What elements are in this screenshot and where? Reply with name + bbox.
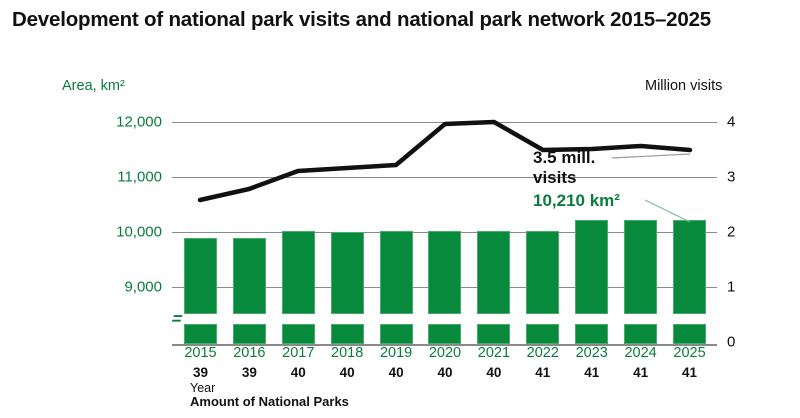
x-label-parks-2021: 40 xyxy=(469,365,518,380)
x-label-year-2020: 2020 xyxy=(421,345,470,361)
bar-2020 xyxy=(428,231,461,314)
ytick-left-11000: 11,000 xyxy=(90,169,162,186)
x-label-year-2018: 2018 xyxy=(323,345,372,361)
chart-container: Development of national park visits and … xyxy=(0,0,800,418)
x-label-parks-2018: 40 xyxy=(323,365,372,380)
ytick-right-4: 4 xyxy=(727,114,735,131)
bar-2025 xyxy=(673,220,706,314)
footnote-parks: Amount of National Parks xyxy=(190,394,349,409)
bar-2022 xyxy=(526,231,559,314)
x-label-parks-2023: 41 xyxy=(567,365,616,380)
visits-annotation-leader xyxy=(612,154,690,158)
bar-2023 xyxy=(575,220,608,314)
x-label-year-2019: 2019 xyxy=(372,345,421,361)
bar-stub-2016 xyxy=(233,324,266,344)
footnote-year: Year xyxy=(190,381,215,395)
annotation-area: 10,210 km² xyxy=(533,191,620,211)
gridline-11000 xyxy=(172,177,717,178)
ytick-right-0: 0 xyxy=(727,334,735,351)
x-label-year-2022: 2022 xyxy=(518,345,567,361)
x-label-year-2024: 2024 xyxy=(616,345,665,361)
bar-stub-2015 xyxy=(184,324,217,344)
x-label-year-2017: 2017 xyxy=(274,345,323,361)
x-label-parks-2015: 39 xyxy=(176,365,225,380)
ytick-left-12000: 12,000 xyxy=(90,114,162,131)
bar-stub-2018 xyxy=(331,324,364,344)
ytick-right-2: 2 xyxy=(727,224,735,241)
annotation-visits-line2: visits xyxy=(533,168,576,188)
ytick-left-9000: 9,000 xyxy=(90,279,162,296)
x-label-parks-2022: 41 xyxy=(518,365,567,380)
bar-stub-2024 xyxy=(624,324,657,344)
bar-2017 xyxy=(282,231,315,314)
x-label-year-2025: 2025 xyxy=(665,345,714,361)
x-label-parks-2017: 40 xyxy=(274,365,323,380)
bar-stub-2020 xyxy=(428,324,461,344)
area-annotation-leader xyxy=(645,200,690,222)
x-label-parks-2019: 40 xyxy=(372,365,421,380)
annotation-visits-line1: 3.5 mill. xyxy=(533,148,595,168)
ytick-left-10000: 10,000 xyxy=(90,224,162,241)
ytick-right-3: 3 xyxy=(727,169,735,186)
bar-2015 xyxy=(184,238,217,314)
bar-stub-2017 xyxy=(282,324,315,344)
x-label-parks-2020: 40 xyxy=(421,365,470,380)
x-label-year-2016: 2016 xyxy=(225,345,274,361)
plot-area: 12,000 11,000 10,000 9,000 4 3 2 1 0 = 3… xyxy=(0,0,800,418)
bar-2021 xyxy=(477,231,510,314)
bar-stub-2019 xyxy=(380,324,413,344)
x-label-year-2015: 2015 xyxy=(176,345,225,361)
x-label-parks-2016: 39 xyxy=(225,365,274,380)
x-label-parks-2025: 41 xyxy=(665,365,714,380)
visits-polyline xyxy=(200,122,690,200)
ytick-right-1: 1 xyxy=(727,279,735,296)
bar-2024 xyxy=(624,220,657,314)
bar-stub-2022 xyxy=(526,324,559,344)
bar-2016 xyxy=(233,238,266,314)
bar-stub-2025 xyxy=(673,324,706,344)
x-label-parks-2024: 41 xyxy=(616,365,665,380)
bar-stub-2023 xyxy=(575,324,608,344)
x-label-year-2023: 2023 xyxy=(567,345,616,361)
bar-2018 xyxy=(331,232,364,314)
bar-stub-2021 xyxy=(477,324,510,344)
x-label-year-2021: 2021 xyxy=(469,345,518,361)
bar-2019 xyxy=(380,231,413,314)
gridline-12000 xyxy=(172,122,717,123)
